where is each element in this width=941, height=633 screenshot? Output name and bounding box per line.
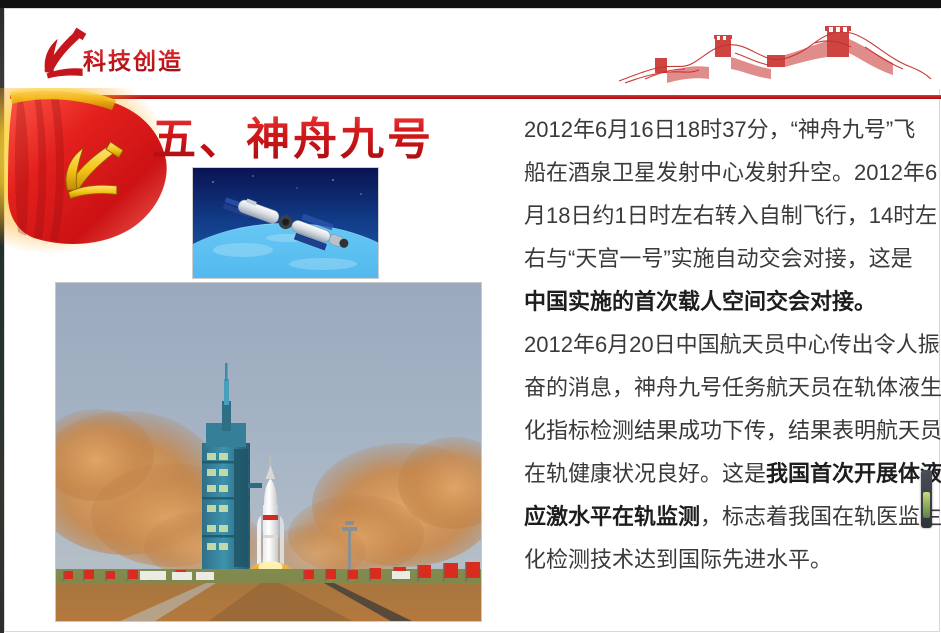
text-line: 应激水平在轨监测，标志着我国在轨医监生 [524, 495, 916, 538]
body-text: 化指标检测结果成功下传，结果表明航天员 [524, 418, 941, 443]
text-line: 中国实施的首次载人空间交会对接。 [524, 280, 916, 323]
slide-header: 科技创造 [5, 9, 940, 89]
body-text: 奋的消息，神舟九号任务航天员在轨体液生 [524, 375, 941, 400]
body-text: 船在酒泉卫星发射中心发射升空。2012年6 [524, 160, 937, 185]
text-line: 2012年6月16日18时37分，“神舟九号”飞 [524, 108, 916, 151]
text-line: 奋的消息，神舟九号任务航天员在轨体液生 [524, 366, 916, 409]
text-line: 月18日约1日时左右转入自制飞行，14时左 [524, 194, 916, 237]
body-text: 在轨健康状况良好。这是 [524, 461, 766, 486]
body-text: 化检测技术达到国际先进水平。 [524, 547, 832, 572]
body-text-block: 2012年6月16日18时37分，“神舟九号”飞 船在酒泉卫星发射中心发射升空。… [524, 108, 916, 581]
text-line: 化指标检测结果成功下传，结果表明航天员 [524, 409, 916, 452]
header-title: 科技创造 [83, 42, 183, 76]
great-wall-illustration-icon [615, 17, 935, 89]
body-text: 2012年6月16日18时37分，“神舟九号”飞 [524, 117, 915, 142]
presentation-slide: 科技创造 [0, 0, 941, 633]
body-text: 2012年6月20日中国航天员中心传出令人振 [524, 332, 940, 357]
window-top-bar [0, 0, 941, 8]
body-text: 右与“天宫一号”实施自动交会对接，这是 [524, 246, 913, 271]
shenzhou-tiangong-docking-photo [192, 167, 379, 279]
text-line: 在轨健康状况良好。这是我国首次开展体液 [524, 452, 916, 495]
body-text: 月18日约1日时左右转入自制飞行，14时左 [524, 203, 937, 228]
rocket-launch-photo [55, 282, 482, 622]
emphasis-text: 我国首次开展体液 [766, 461, 941, 486]
text-line: 2012年6月20日中国航天员中心传出令人振 [524, 323, 916, 366]
emphasis-text: 应激水平在轨监测 [524, 504, 700, 529]
text-line: 化检测技术达到国际先进水平。 [524, 538, 916, 581]
text-line: 船在酒泉卫星发射中心发射升空。2012年6 [524, 151, 916, 194]
emphasis-text: 中国实施的首次载人空间交会对接。 [524, 289, 876, 314]
vertical-scroll-indicator[interactable] [921, 470, 932, 528]
page-title: 五、神舟九号 [152, 103, 434, 167]
text-line: 右与“天宫一号”实施自动交会对接，这是 [524, 237, 916, 280]
body-text: ，标志着我国在轨医监生 [700, 504, 941, 529]
